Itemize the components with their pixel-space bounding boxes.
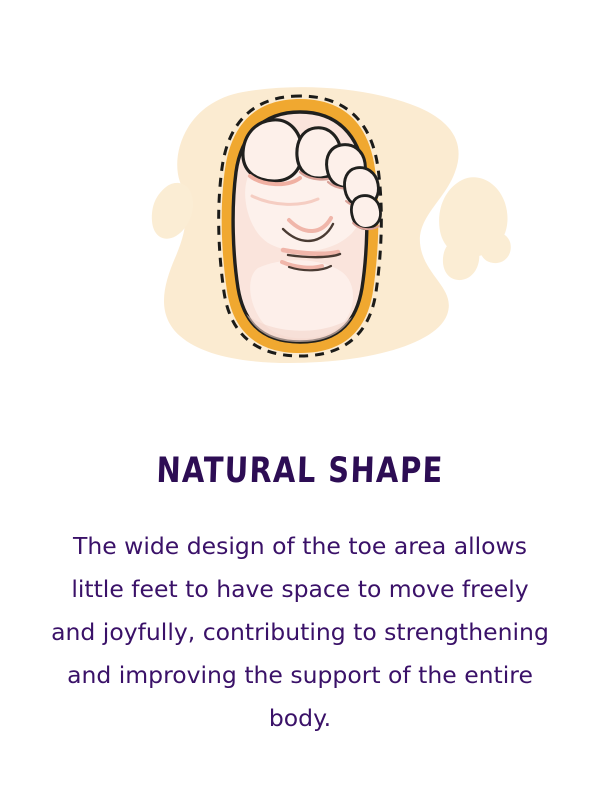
background-blob-right-small-upper (480, 232, 511, 263)
feature-card: NATURAL SHAPE The wide design of the toe… (0, 0, 600, 810)
barefoot-sole-illustration (0, 0, 600, 430)
illustration-container (0, 0, 600, 430)
description-text: The wide design of the toe area allows l… (50, 525, 550, 740)
toe-little (351, 196, 380, 229)
toe-big (243, 120, 302, 181)
page-title: NATURAL SHAPE (156, 452, 444, 491)
